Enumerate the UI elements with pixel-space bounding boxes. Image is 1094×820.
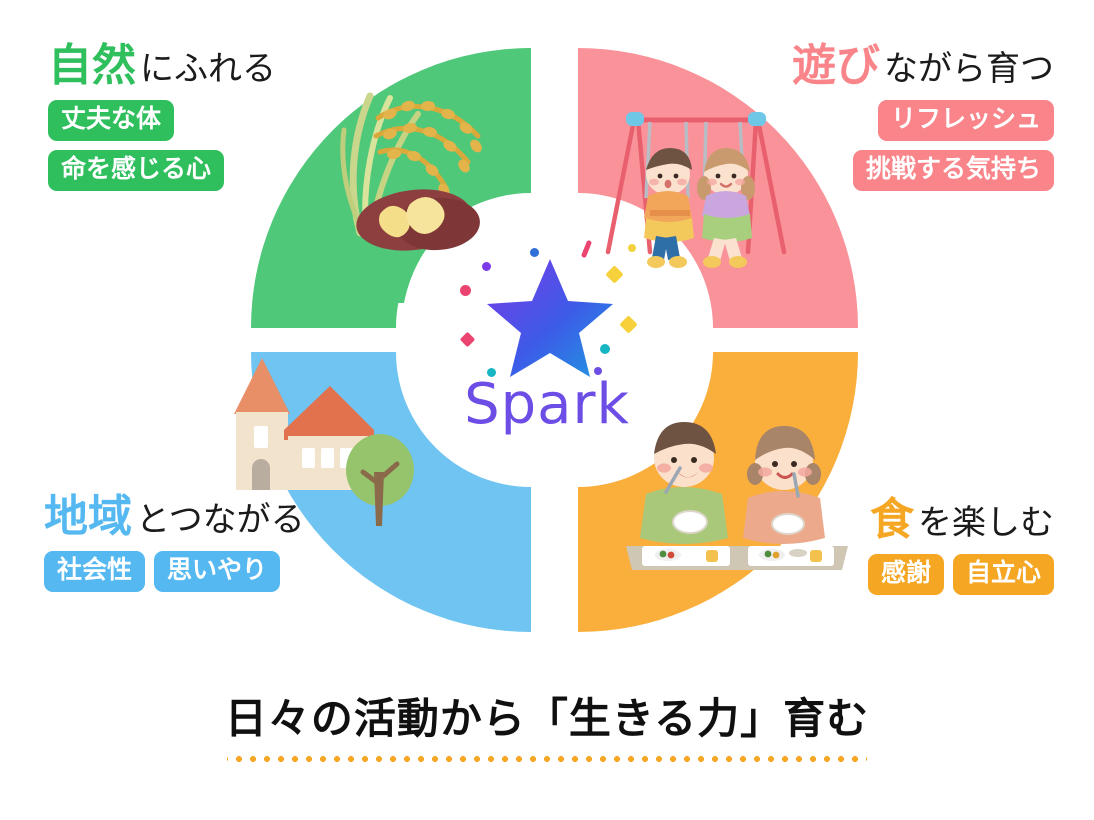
bottom-caption-text: 日々の活動から「生きる力」育む: [0, 694, 1094, 744]
quadrant-local-keyword: 地域: [44, 491, 132, 542]
tag-nature-1[interactable]: 丈夫な体: [48, 100, 174, 141]
confetti-dot-teal-2: [600, 344, 610, 354]
quadrant-play-tagrow-1: リフレッシュ: [792, 100, 1054, 141]
quadrant-food-tagrow: 感謝 自立心: [868, 554, 1054, 595]
tag-play-1[interactable]: リフレッシュ: [878, 100, 1054, 141]
quadrant-nature: 自然にふれる 丈夫な体 命を感じる心: [48, 44, 276, 191]
quadrant-food-heading: 食を楽しむ: [868, 498, 1054, 542]
poster-canvas: Spark 自然にふれる 丈夫な体 命を感じる心 遊びながら育つ リフレッシュ …: [0, 0, 1094, 820]
child-eating-right-icon: [743, 426, 825, 544]
confetti-dot-blue: [530, 248, 539, 257]
quadrant-play-heading: 遊びながら育つ: [792, 44, 1054, 88]
quadrant-play-suffix: ながら育つ: [884, 49, 1054, 89]
quadrant-local-heading: 地域とつながる: [44, 495, 305, 539]
tag-food-1[interactable]: 感謝: [868, 554, 944, 595]
swing-frame-icon: [608, 112, 784, 252]
confetti-dot-pink: [460, 285, 471, 296]
quadrant-local-tagrow: 社会性 思いやり: [44, 551, 305, 592]
rice-plant-and-sweet-potato-illustration: [318, 58, 498, 258]
sweet-potato-icon: [353, 183, 482, 257]
tag-local-1[interactable]: 社会性: [44, 551, 145, 592]
star-icon: [485, 255, 615, 380]
quadrant-play-tagrow-2: 挑戦する気持ち: [792, 150, 1054, 191]
child-eating-left-icon: [640, 422, 728, 544]
tag-play-2[interactable]: 挑戦する気持ち: [853, 150, 1054, 191]
rice-ears-icon: [376, 99, 484, 198]
quadrant-nature-tagrow-1: 丈夫な体: [48, 100, 276, 141]
quadrant-food: 食を楽しむ 感謝 自立心: [868, 498, 1054, 595]
quadrant-local-suffix: とつながる: [136, 500, 305, 540]
quadrant-food-keyword: 食: [870, 494, 914, 545]
meal-tray-icon: [626, 546, 848, 570]
quadrant-play: 遊びながら育つ リフレッシュ 挑戦する気持ち: [792, 44, 1054, 191]
caption-dotted-underline: [227, 755, 867, 763]
quadrant-nature-suffix: にふれる: [140, 49, 276, 89]
tag-local-2[interactable]: 思いやり: [154, 551, 280, 592]
bottom-caption-block: 日々の活動から「生きる力」育む: [0, 694, 1094, 763]
quadrant-nature-keyword: 自然: [48, 40, 136, 91]
quadrant-nature-tagrow-2: 命を感じる心: [48, 150, 276, 191]
quadrant-play-keyword: 遊び: [792, 40, 880, 91]
confetti-dot-violet: [482, 262, 491, 271]
quadrant-nature-heading: 自然にふれる: [48, 44, 276, 88]
spark-wordmark: Spark: [0, 372, 1094, 437]
quadrant-local: 地域とつながる 社会性 思いやり: [44, 495, 305, 592]
tag-nature-2[interactable]: 命を感じる心: [48, 150, 224, 191]
confetti-dot-yellow-small: [628, 244, 636, 252]
quadrant-food-suffix: を楽しむ: [918, 503, 1054, 543]
tag-food-2[interactable]: 自立心: [953, 554, 1054, 595]
tree-icon: [346, 434, 414, 526]
children-on-swing-illustration: [598, 100, 818, 280]
